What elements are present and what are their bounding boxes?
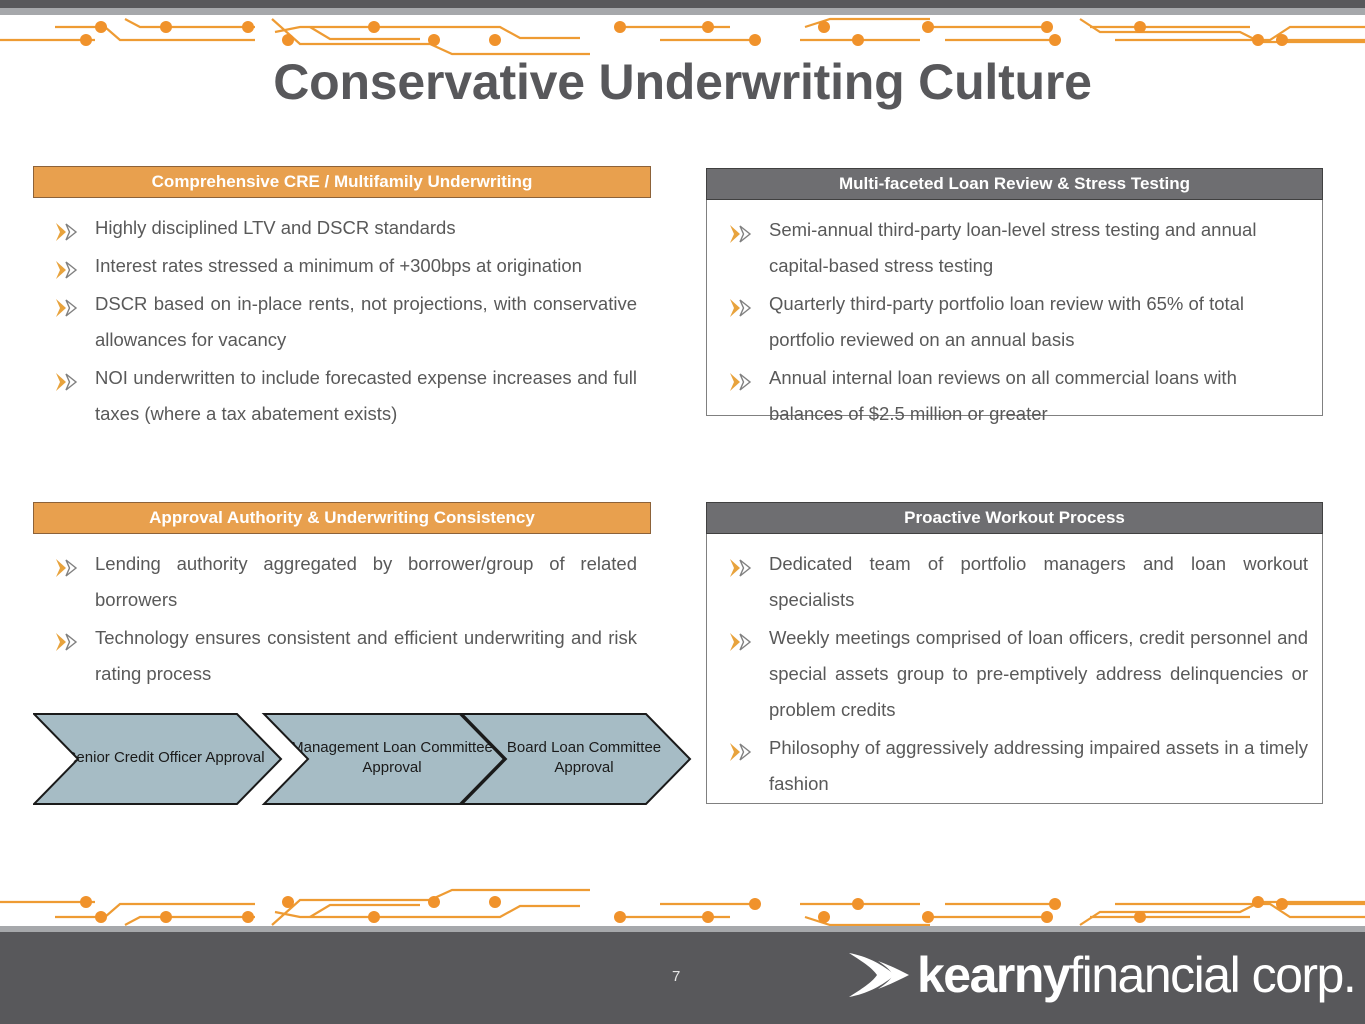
list-item: Philosophy of aggressively addressing im… bbox=[717, 730, 1308, 802]
panel-body-approval-authority: Lending authority aggregated by borrower… bbox=[33, 534, 651, 704]
list-item-text: Dedicated team of portfolio managers and… bbox=[769, 553, 1308, 610]
list-item: DSCR based on in-place rents, not projec… bbox=[43, 286, 637, 358]
double-chevron-bullet-icon bbox=[729, 294, 755, 314]
page-number: 7 bbox=[672, 968, 680, 985]
bullet-list-approval-authority: Lending authority aggregated by borrower… bbox=[43, 546, 637, 692]
list-item: Technology ensures consistent and effici… bbox=[43, 620, 637, 692]
panel-header-comprehensive-underwriting: Comprehensive CRE / Multifamily Underwri… bbox=[33, 166, 651, 198]
panel-body-proactive-workout-process: Dedicated team of portfolio managers and… bbox=[706, 534, 1323, 804]
panel-approval-authority: Approval Authority & Underwriting Consis… bbox=[33, 502, 651, 704]
panel-loan-review-stress-testing: Multi-faceted Loan Review & Stress Testi… bbox=[706, 168, 1323, 416]
flow-step-label: Senior Credit Officer Approval bbox=[48, 748, 264, 768]
list-item: NOI underwritten to include forecasted e… bbox=[43, 360, 637, 432]
panel-body-loan-review-stress-testing: Semi-annual third-party loan-level stres… bbox=[706, 200, 1323, 416]
list-item-text: DSCR based on in-place rents, not projec… bbox=[95, 293, 637, 350]
list-item-text: Lending authority aggregated by borrower… bbox=[95, 553, 637, 610]
double-chevron-bullet-icon bbox=[729, 368, 755, 388]
approval-process-flow: Senior Credit Officer Approval Managemen… bbox=[33, 713, 658, 803]
panel-proactive-workout-process: Proactive Workout Process Dedicated team… bbox=[706, 502, 1323, 804]
slide-canvas: Conservative Underwriting Culture Compre… bbox=[0, 0, 1365, 1024]
panel-header-approval-authority: Approval Authority & Underwriting Consis… bbox=[33, 502, 651, 534]
page-title: Conservative Underwriting Culture bbox=[0, 55, 1365, 110]
bullet-list-proactive-workout-process: Dedicated team of portfolio managers and… bbox=[717, 546, 1308, 802]
list-item: Highly disciplined LTV and DSCR standard… bbox=[43, 210, 637, 246]
kearny-swoosh-icon bbox=[845, 947, 915, 1003]
double-chevron-bullet-icon bbox=[55, 628, 81, 648]
circuit-decoration-bottom bbox=[0, 884, 1365, 930]
list-item-text: Philosophy of aggressively addressing im… bbox=[769, 737, 1308, 794]
double-chevron-bullet-icon bbox=[729, 554, 755, 574]
list-item-text: Semi-annual third-party loan-level stres… bbox=[769, 219, 1256, 276]
list-item-text: Annual internal loan reviews on all comm… bbox=[769, 367, 1237, 424]
double-chevron-bullet-icon bbox=[729, 738, 755, 758]
logo-light-text: financial corp. bbox=[1069, 947, 1355, 1003]
list-item-text: Highly disciplined LTV and DSCR standard… bbox=[95, 217, 456, 238]
list-item: Weekly meetings comprised of loan office… bbox=[717, 620, 1308, 728]
double-chevron-bullet-icon bbox=[55, 554, 81, 574]
list-item: Annual internal loan reviews on all comm… bbox=[717, 360, 1308, 432]
panel-body-comprehensive-underwriting: Highly disciplined LTV and DSCR standard… bbox=[33, 198, 651, 444]
list-item-text: Interest rates stressed a minimum of +30… bbox=[95, 255, 582, 276]
panel-header-loan-review-stress-testing: Multi-faceted Loan Review & Stress Testi… bbox=[706, 168, 1323, 200]
list-item: Interest rates stressed a minimum of +30… bbox=[43, 248, 637, 284]
kearny-logo: kearnyfinancial corp. bbox=[845, 944, 1355, 1006]
list-item: Semi-annual third-party loan-level stres… bbox=[717, 212, 1308, 284]
top-dark-band bbox=[0, 0, 1365, 8]
bullet-list-comprehensive-underwriting: Highly disciplined LTV and DSCR standard… bbox=[43, 210, 637, 432]
logo-bold-text: kearny bbox=[917, 947, 1069, 1003]
double-chevron-bullet-icon bbox=[55, 256, 81, 276]
double-chevron-bullet-icon bbox=[55, 368, 81, 388]
double-chevron-bullet-icon bbox=[729, 628, 755, 648]
list-item-text: Weekly meetings comprised of loan office… bbox=[769, 627, 1308, 720]
panel-comprehensive-underwriting: Comprehensive CRE / Multifamily Underwri… bbox=[33, 166, 651, 444]
double-chevron-bullet-icon bbox=[55, 218, 81, 238]
list-item-text: Technology ensures consistent and effici… bbox=[95, 627, 637, 684]
bullet-list-loan-review-stress-testing: Semi-annual third-party loan-level stres… bbox=[717, 212, 1308, 432]
kearny-wordmark: kearnyfinancial corp. bbox=[917, 950, 1355, 1000]
double-chevron-bullet-icon bbox=[729, 220, 755, 240]
list-item: Quarterly third-party portfolio loan rev… bbox=[717, 286, 1308, 358]
list-item: Dedicated team of portfolio managers and… bbox=[717, 546, 1308, 618]
panel-header-proactive-workout-process: Proactive Workout Process bbox=[706, 502, 1323, 534]
double-chevron-bullet-icon bbox=[55, 294, 81, 314]
list-item: Lending authority aggregated by borrower… bbox=[43, 546, 637, 618]
list-item-text: NOI underwritten to include forecasted e… bbox=[95, 367, 637, 424]
list-item-text: Quarterly third-party portfolio loan rev… bbox=[769, 293, 1244, 350]
